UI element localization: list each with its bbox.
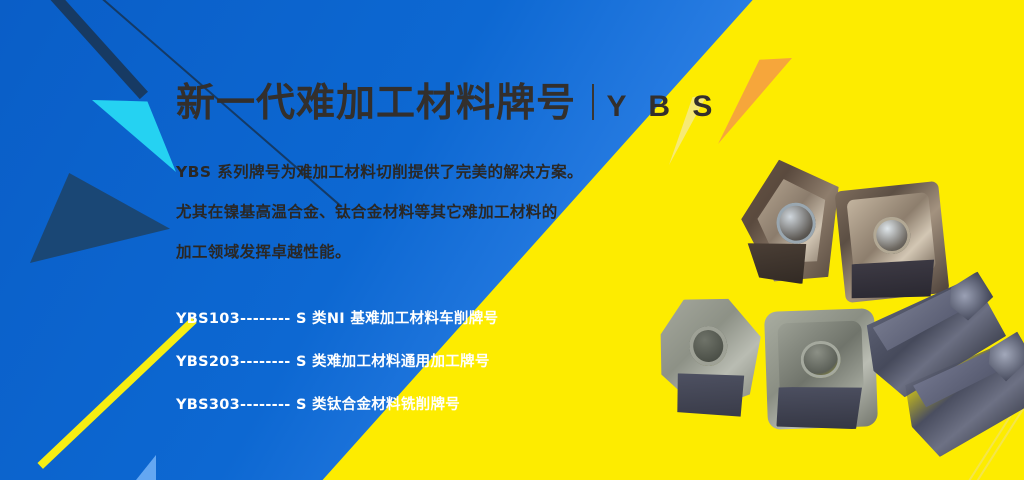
insert-side-flank (670, 368, 754, 423)
description-line: 加工领域发挥卓越性能。 (176, 244, 596, 261)
description-paragraphs: YBS 系列牌号为难加工材料切削提供了完美的解决方案。 尤其在镍基高温合金、钛合… (176, 164, 596, 284)
title-main-text: 新一代难加工材料牌号 (176, 72, 576, 128)
milling-insert-round (652, 294, 766, 419)
banner-title: 新一代难加工材料牌号 Y B S (176, 72, 719, 128)
turning-insert-square (834, 181, 949, 303)
title-sub-text: Y B S (607, 90, 720, 124)
product-grade-item: YBS303-------- S 类钛合金材料铣削牌号 (176, 393, 606, 414)
description-line: YBS 系列牌号为难加工材料切削提供了完美的解决方案。 (176, 164, 596, 181)
product-grade-list: YBS103-------- S 类NI 基难加工材料车削牌号 YBS203--… (176, 307, 606, 436)
title-separator (592, 84, 594, 120)
description-line: 尤其在镍基高温合金、钛合金材料等其它难加工材料的 (176, 204, 596, 221)
cutting-insert-product-group (628, 150, 1024, 480)
product-grade-item: YBS103-------- S 类NI 基难加工材料车削牌号 (176, 307, 606, 328)
promo-banner: 新一代难加工材料牌号 Y B S YBS 系列牌号为难加工材料切削提供了完美的解… (0, 0, 1024, 480)
insert-side-flank (773, 384, 867, 432)
product-grade-item: YBS203-------- S 类难加工材料通用加工牌号 (176, 350, 606, 371)
text-content-block: 新一代难加工材料牌号 Y B S YBS 系列牌号为难加工材料切削提供了完美的解… (176, 0, 646, 480)
